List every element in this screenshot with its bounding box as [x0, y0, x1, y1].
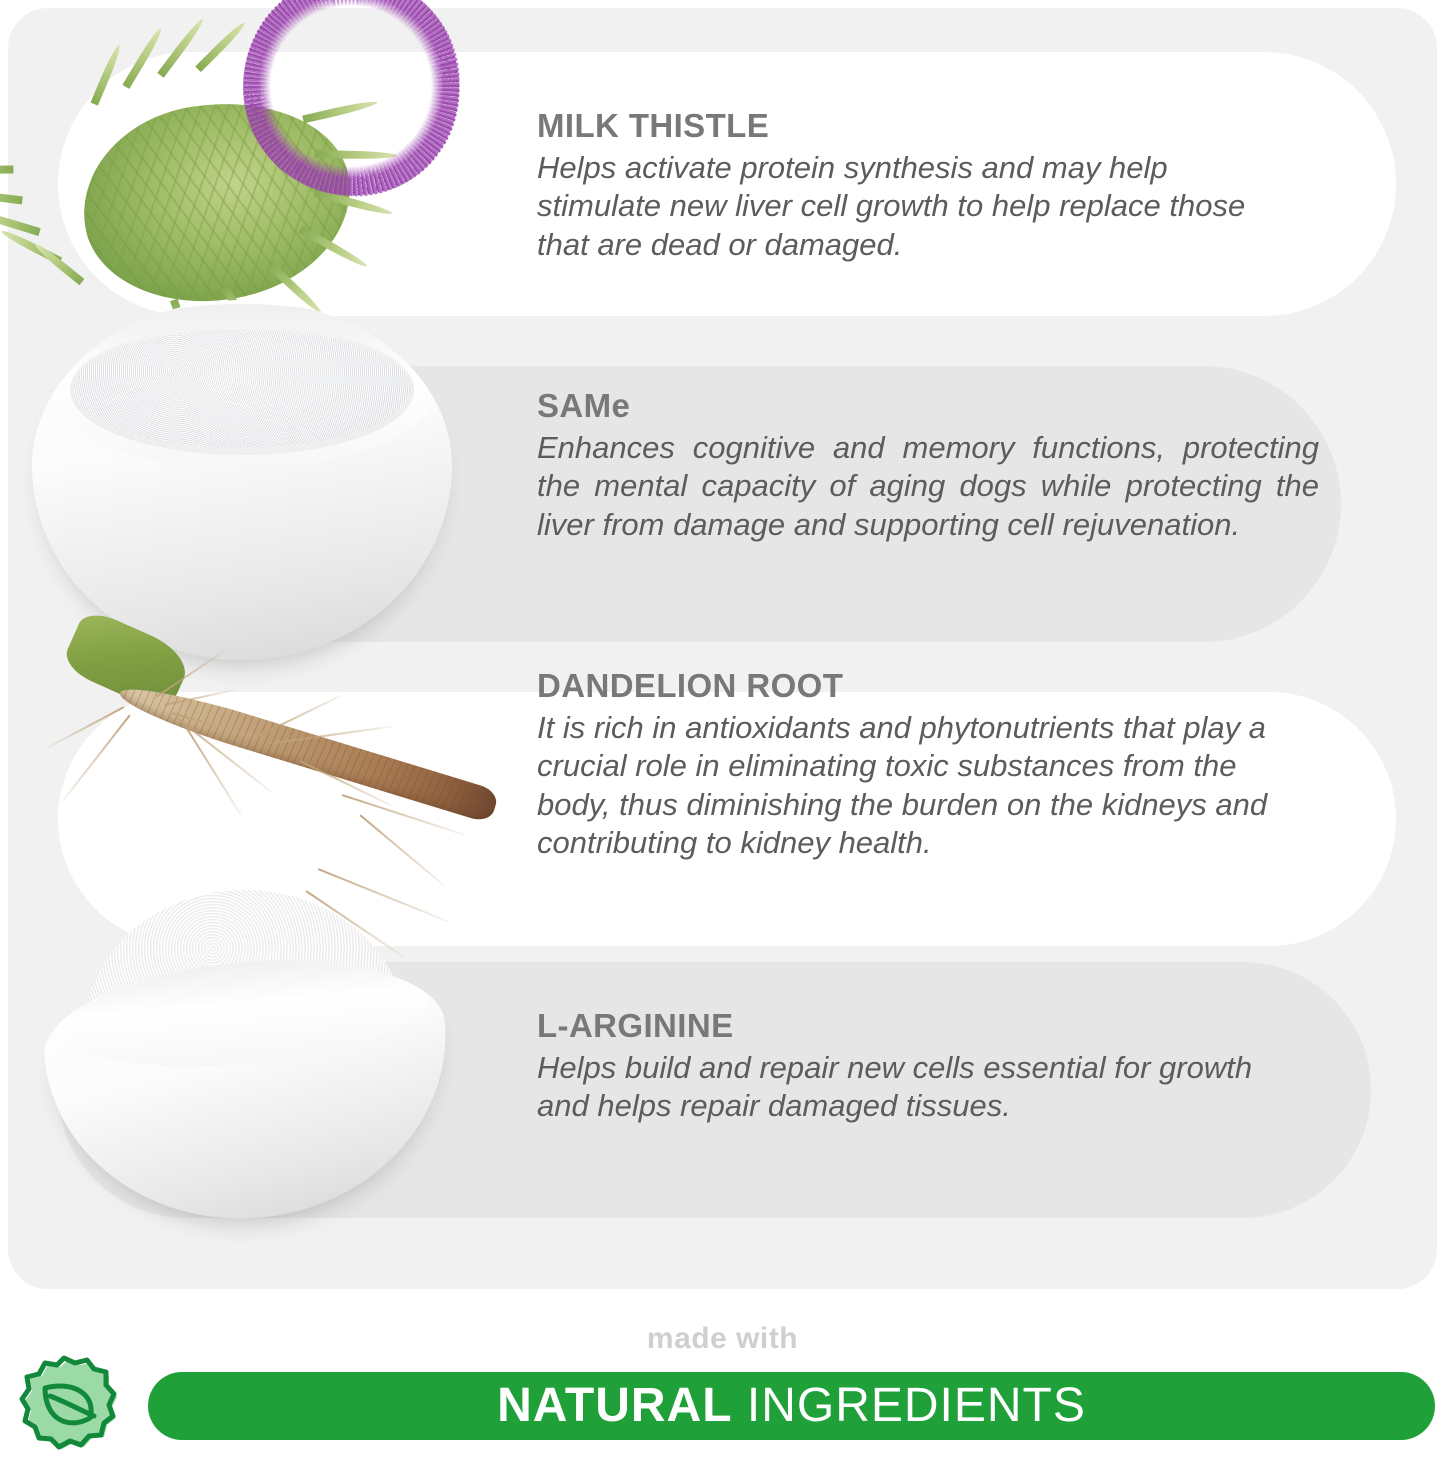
ingredient-text-dandelion-root: DANDELION ROOT It is rich in antioxidant… [537, 668, 1287, 863]
ingredient-description: Helps build and repair new cells essenti… [537, 1049, 1257, 1126]
ingredient-title: L-ARGININE [537, 1008, 1257, 1045]
leaf-badge-icon [14, 1352, 126, 1458]
natural-ingredients-banner: NATURAL INGREDIENTS [148, 1372, 1435, 1440]
ingredient-text-same: SAMe Enhances cognitive and memory funct… [537, 388, 1319, 544]
ingredient-title: DANDELION ROOT [537, 668, 1287, 705]
ingredient-text-l-arginine: L-ARGININE Helps build and repair new ce… [537, 1008, 1257, 1126]
ingredient-title: SAMe [537, 388, 1319, 425]
root-taproot [115, 677, 500, 824]
ingredients-word: INGREDIENTS [747, 1379, 1086, 1432]
natural-word: NATURAL [497, 1379, 732, 1432]
ingredient-description: Helps activate protein synthesis and may… [537, 149, 1257, 264]
ingredient-title: MILK THISTLE [537, 108, 1257, 145]
made-with-label: made with [0, 1322, 1445, 1356]
l-arginine-powder-bowl-photo [48, 890, 450, 1220]
ingredient-description: Enhances cognitive and memory functions,… [537, 429, 1319, 544]
ingredient-text-milk-thistle: MILK THISTLE Helps activate protein synt… [537, 108, 1257, 264]
ingredient-description: It is rich in antioxidants and phytonutr… [537, 709, 1287, 863]
infographic-root: MILK THISTLE Helps activate protein synt… [0, 0, 1445, 1462]
